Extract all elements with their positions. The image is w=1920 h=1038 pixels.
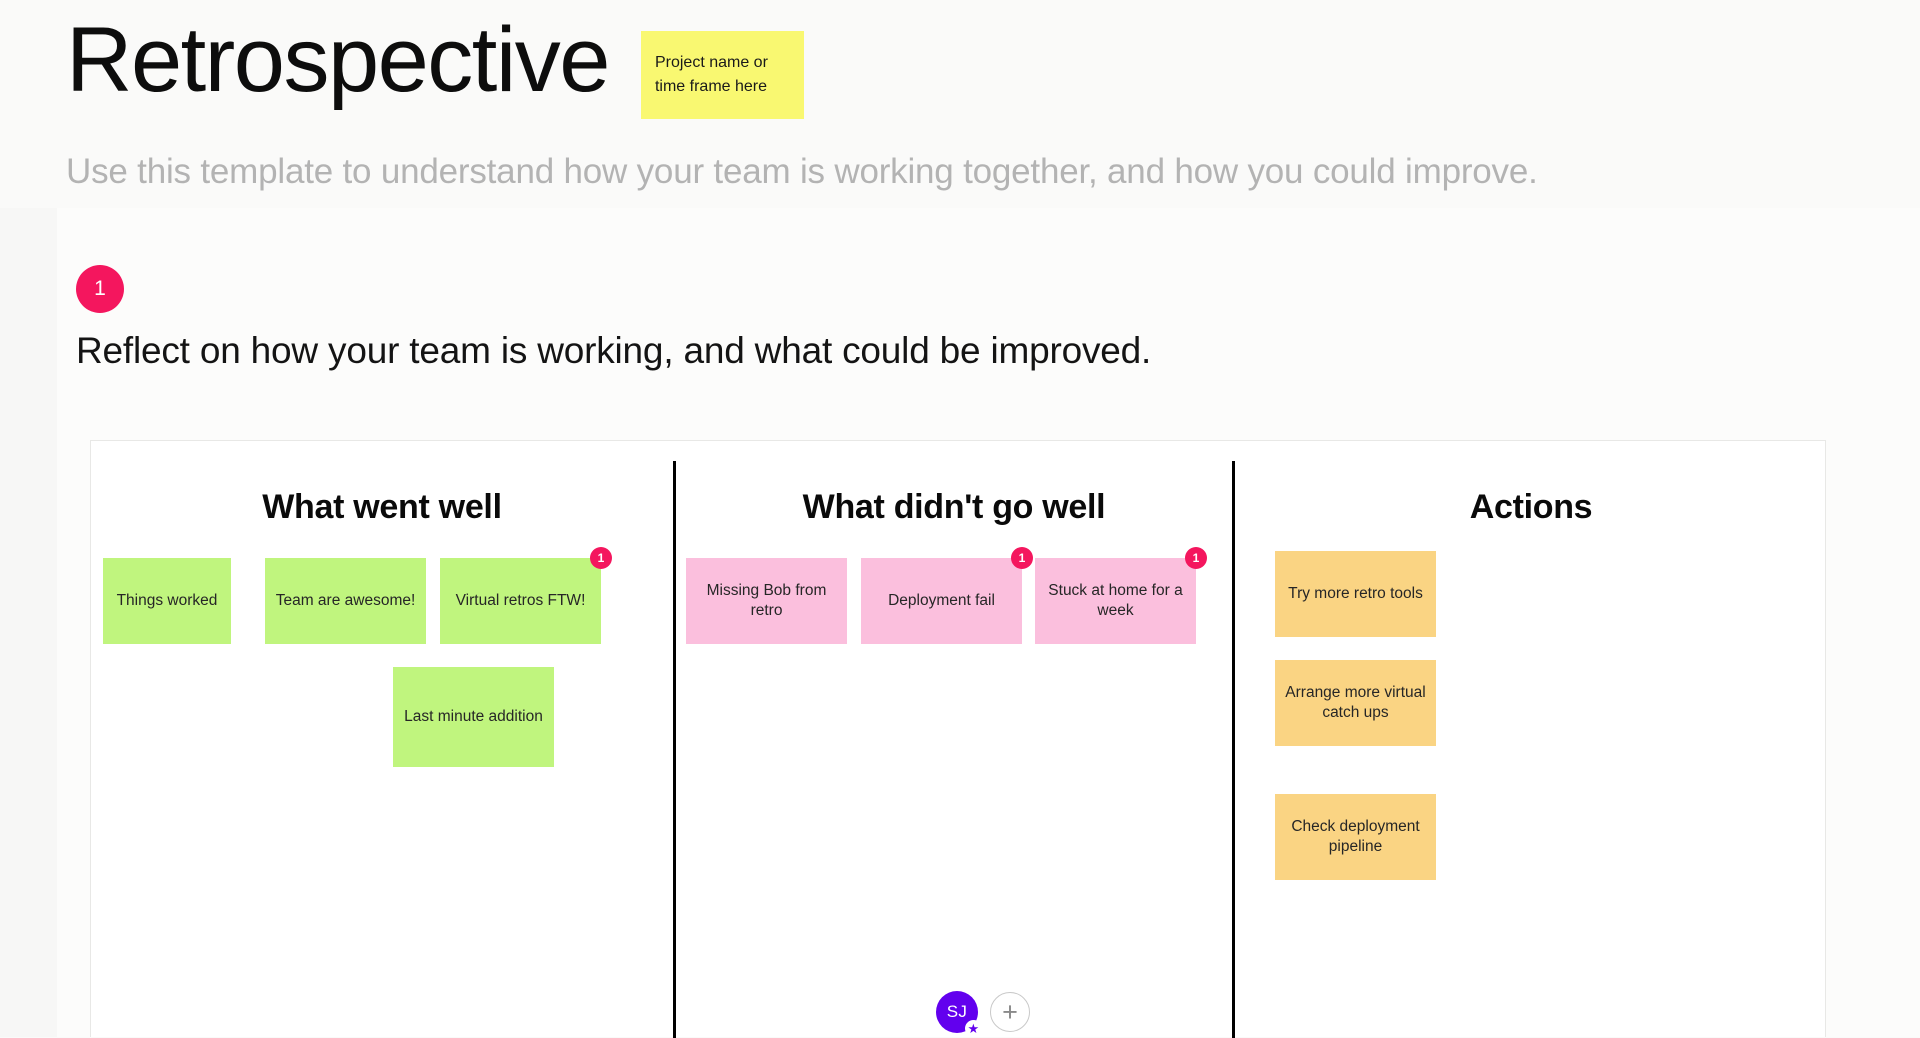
sticky-note[interactable]: Team are awesome! <box>265 558 426 644</box>
sticky-note[interactable]: Try more retro tools <box>1275 551 1436 637</box>
title-sticky-line-1: Project name or <box>655 51 790 75</box>
column-divider-2 <box>1232 461 1235 1038</box>
step-number-badge: 1 <box>76 265 124 313</box>
sticky-note-text: Check deployment pipeline <box>1285 817 1426 857</box>
sticky-note[interactable]: Check deployment pipeline <box>1275 794 1436 880</box>
header-band: Retrospective Project name or time frame… <box>0 0 1920 208</box>
sticky-note-text: Last minute addition <box>404 707 543 727</box>
sticky-note-text: Missing Bob from retro <box>696 581 837 621</box>
presence-row: SJ ★ + <box>936 991 1030 1033</box>
page-title: Retrospective <box>66 4 609 116</box>
sticky-note[interactable]: Deployment fail1 <box>861 558 1022 644</box>
sticky-note-vote-badge[interactable]: 1 <box>1185 547 1207 569</box>
step-heading: Reflect on how your team is working, and… <box>76 325 1151 377</box>
page-subtitle: Use this template to understand how your… <box>66 148 1538 196</box>
sticky-note[interactable]: Missing Bob from retro <box>686 558 847 644</box>
column-title-what-didnt-go-well: What didn't go well <box>676 486 1232 528</box>
sticky-note-text: Stuck at home for a week <box>1045 581 1186 621</box>
page-root: Retrospective Project name or time frame… <box>0 0 1920 1037</box>
add-button[interactable]: + <box>990 992 1030 1032</box>
sticky-note-text: Virtual retros FTW! <box>456 591 586 611</box>
column-title-what-went-well: What went well <box>91 486 673 528</box>
title-sticky-note[interactable]: Project name or time frame here <box>641 31 804 119</box>
sticky-note[interactable]: Things worked <box>103 558 231 644</box>
column-divider-1 <box>673 461 676 1038</box>
sticky-note-text: Try more retro tools <box>1288 584 1423 604</box>
column-title-actions: Actions <box>1235 486 1827 528</box>
sticky-note-text: Things worked <box>117 591 218 611</box>
sticky-note[interactable]: Virtual retros FTW!1 <box>440 558 601 644</box>
retro-board: What went well Things workedTeam are awe… <box>90 440 1826 1037</box>
star-icon: ★ <box>965 1020 982 1037</box>
sticky-note[interactable]: Arrange more virtual catch ups <box>1275 660 1436 746</box>
plus-icon: + <box>1002 999 1018 1026</box>
title-row: Retrospective Project name or time frame… <box>66 4 804 119</box>
sticky-note-text: Team are awesome! <box>276 591 416 611</box>
sticky-note-vote-badge[interactable]: 1 <box>590 547 612 569</box>
sticky-note[interactable]: Last minute addition <box>393 667 554 767</box>
avatar[interactable]: SJ ★ <box>936 991 978 1033</box>
sticky-note-text: Arrange more virtual catch ups <box>1285 683 1426 723</box>
sticky-note-text: Deployment fail <box>888 591 995 611</box>
title-sticky-line-2: time frame here <box>655 75 790 99</box>
sticky-note-vote-badge[interactable]: 1 <box>1011 547 1033 569</box>
sticky-note[interactable]: Stuck at home for a week1 <box>1035 558 1196 644</box>
avatar-initials: SJ <box>947 1002 967 1022</box>
